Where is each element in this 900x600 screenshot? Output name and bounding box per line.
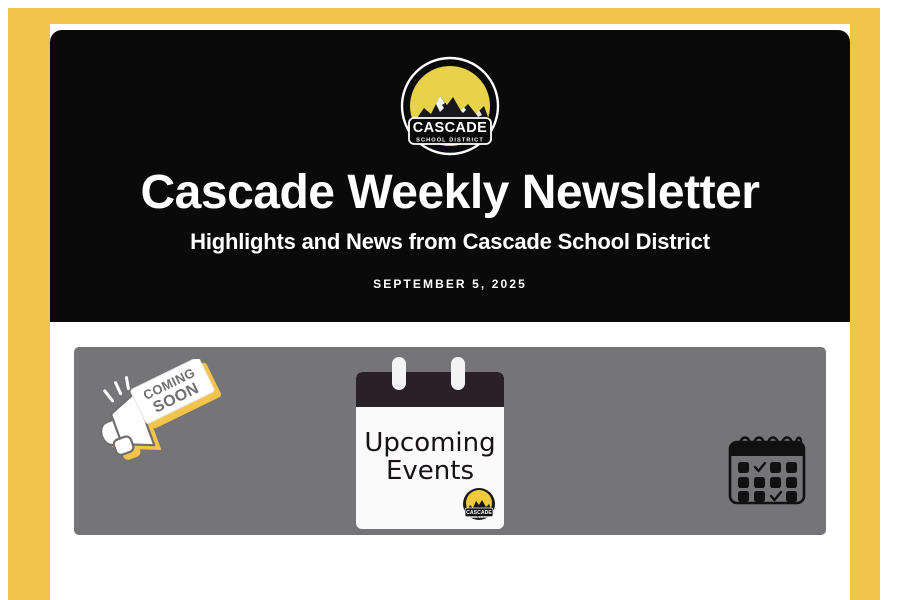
svg-text:SCHOOL DISTRICT: SCHOOL DISTRICT [416,138,484,144]
svg-text:CASCADE: CASCADE [466,510,492,516]
page-title: Cascade Weekly Newsletter [50,168,850,219]
calendar-ring-right [451,357,465,390]
calendar-ring-left [392,357,406,390]
calendar-check-row1 [755,463,765,471]
cascade-mountain-badge-logo-mini-svg: CASCADE SCHOOL DISTRICT [462,487,496,521]
newsletter-page: CASCADE SCHOOL DISTRICT Cascade Weekly N… [0,0,900,600]
svg-text:CASCADE: CASCADE [413,120,488,136]
upcoming-events-line1: Upcoming [356,429,504,457]
cascade-mini-logo: CASCADE SCHOOL DISTRICT [462,487,496,521]
upcoming-events-line2: Events [356,457,504,485]
issue-date: SEPTEMBER 5, 2025 [50,277,850,291]
feature-image-band: COMING SOON Upcoming Events [74,347,826,535]
cascade-mountain-badge-logo-svg: CASCADE SCHOOL DISTRICT [400,56,500,160]
newsletter-header: CASCADE SCHOOL DISTRICT Cascade Weekly N… [50,30,850,322]
upcoming-events-card: Upcoming Events CASCADE SCHOOL DISTRICT [356,357,504,529]
svg-text:SCHOOL DISTRICT: SCHOOL DISTRICT [466,517,492,519]
upcoming-events-text: Upcoming Events [356,429,504,486]
spiral-calendar-icon [726,431,808,507]
megaphone-icon: COMING SOON [86,359,236,469]
calendar-card-body: Upcoming Events CASCADE SCHOOL DISTRICT [356,372,504,529]
coming-soon-badge: COMING SOON [86,359,236,469]
page-subtitle: Highlights and News from Cascade School … [50,229,850,255]
spiral-calendar-icon-svg [726,431,808,507]
cascade-logo: CASCADE SCHOOL DISTRICT [400,30,500,160]
calendar-check-row3 [771,492,781,500]
newsletter-body-area [50,535,850,600]
calendar-card-header-bar [356,372,504,407]
